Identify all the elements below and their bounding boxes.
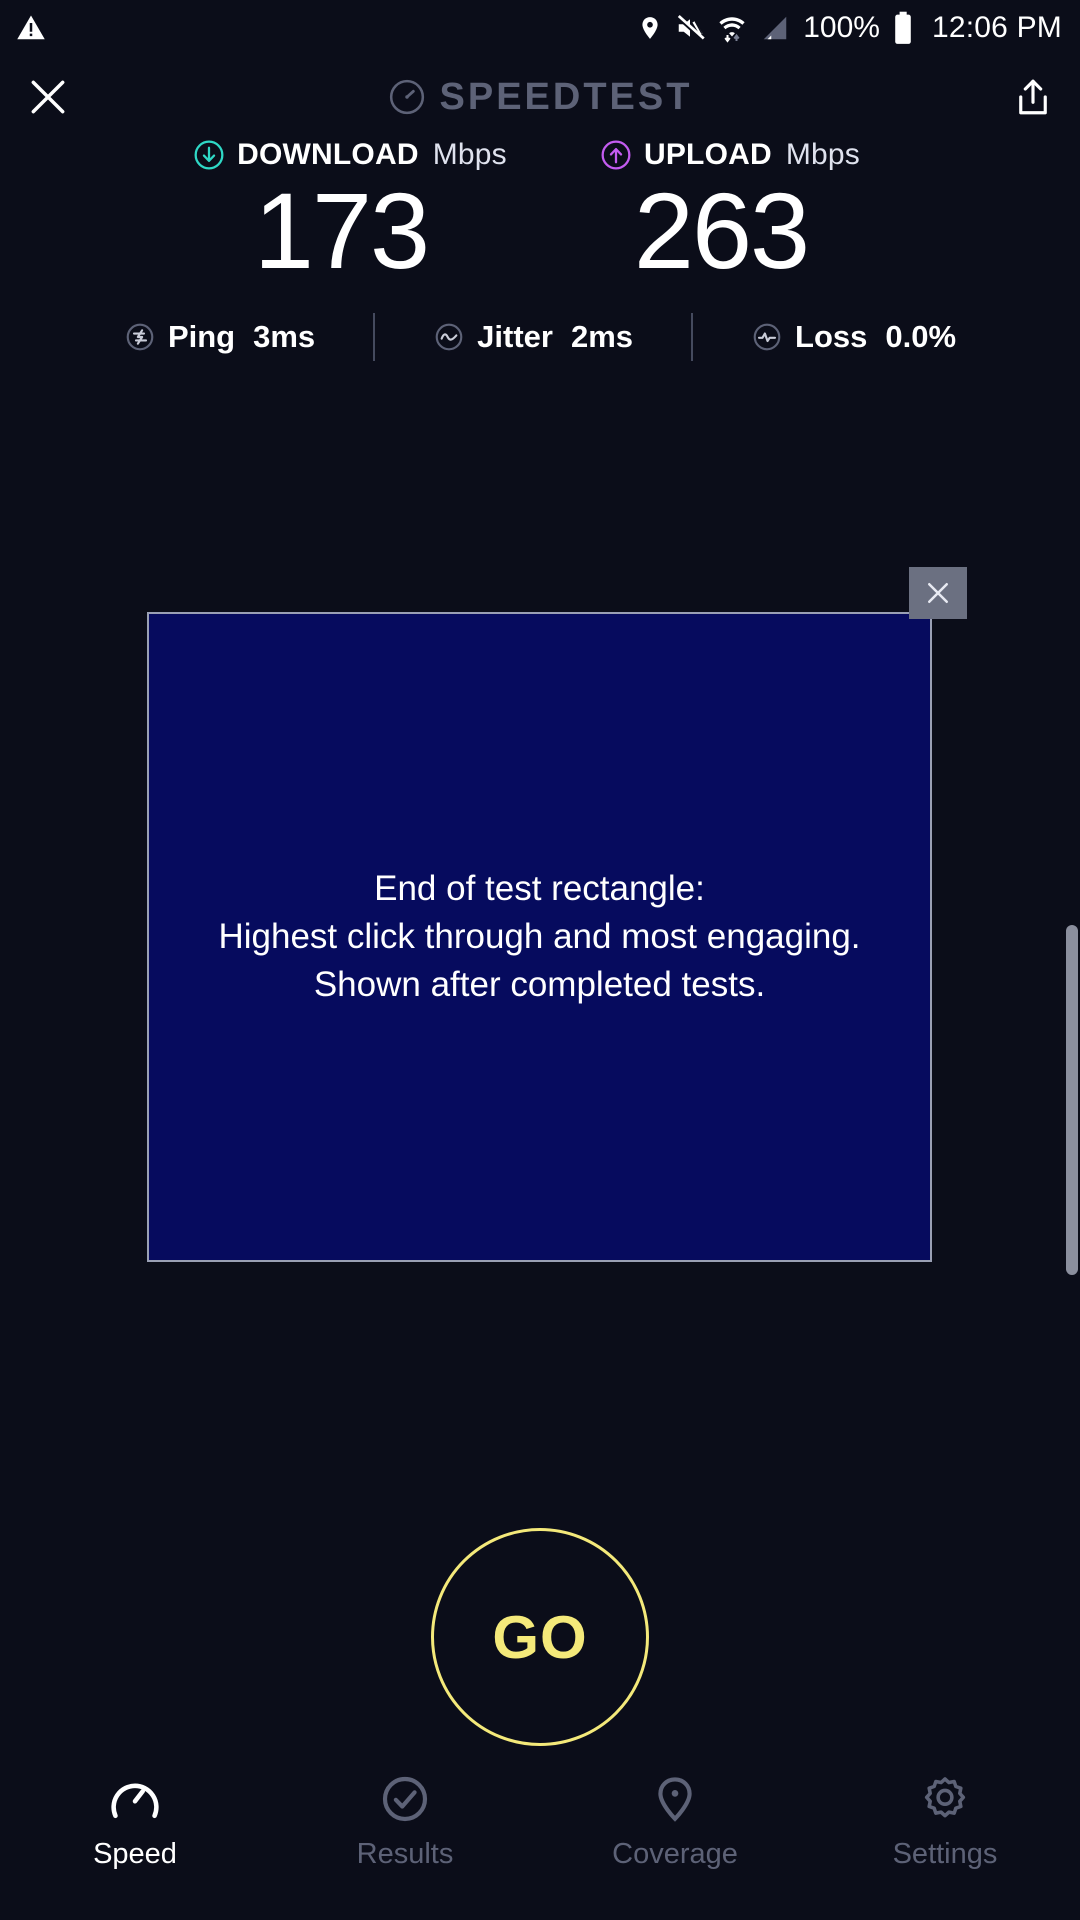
- advertisement: End of test rectangle: Highest click thr…: [147, 612, 932, 1262]
- ad-text: End of test rectangle: Highest click thr…: [218, 865, 860, 1010]
- nav-label-coverage: Coverage: [612, 1838, 738, 1871]
- loss-value: 0.0%: [885, 319, 956, 355]
- close-icon[interactable]: [26, 75, 70, 119]
- ad-line-2: Highest click through and most engaging.: [218, 913, 860, 961]
- loss-icon: [751, 321, 783, 353]
- map-pin-icon: [650, 1774, 700, 1824]
- jitter-metric: Jitter 2ms: [433, 319, 633, 355]
- upload-unit: Mbps: [786, 138, 860, 172]
- nav-item-results[interactable]: Results: [270, 1774, 540, 1871]
- nav-item-speed[interactable]: Speed: [0, 1774, 270, 1871]
- battery-full-icon: [892, 11, 914, 45]
- divider: [373, 313, 375, 361]
- gear-icon: [919, 1774, 971, 1824]
- app-bar: [0, 56, 1080, 138]
- ad-line-1: End of test rectangle:: [218, 865, 860, 913]
- ping-value: 3ms: [253, 319, 315, 355]
- ping-metric: Ping 3ms: [124, 319, 315, 355]
- go-button-label: GO: [492, 1603, 587, 1672]
- speed-metrics-row: DOWNLOAD Mbps 173 UPLOAD Mbps 263: [0, 138, 1080, 287]
- upload-label-row: UPLOAD Mbps: [540, 138, 920, 172]
- ad-banner[interactable]: End of test rectangle: Highest click thr…: [147, 612, 932, 1262]
- loss-metric: Loss 0.0%: [751, 319, 956, 355]
- nav-label-speed: Speed: [93, 1838, 177, 1871]
- upload-metric: UPLOAD Mbps 263: [540, 138, 920, 287]
- loss-label: Loss: [795, 319, 867, 355]
- speedometer-icon: [107, 1774, 163, 1824]
- upload-value: 263: [522, 174, 920, 287]
- arrow-down-circle-icon: [193, 139, 225, 171]
- status-bar-right: 100% 12:06 PM: [637, 11, 1062, 45]
- jitter-value: 2ms: [571, 319, 633, 355]
- bottom-navigation: Speed Results Coverage: [0, 1760, 1080, 1920]
- divider: [691, 313, 693, 361]
- check-circle-icon: [379, 1774, 431, 1824]
- ad-line-3: Shown after completed tests.: [218, 961, 860, 1009]
- status-bar-clock: 12:06 PM: [932, 11, 1062, 45]
- jitter-label: Jitter: [477, 319, 553, 355]
- download-label: DOWNLOAD: [237, 138, 419, 172]
- download-label-row: DOWNLOAD Mbps: [160, 138, 540, 172]
- status-bar-left: [16, 13, 46, 43]
- nav-label-settings: Settings: [893, 1838, 998, 1871]
- warning-triangle-icon: [16, 13, 46, 43]
- share-icon[interactable]: [1012, 76, 1054, 118]
- nav-label-results: Results: [357, 1838, 454, 1871]
- nav-item-settings[interactable]: Settings: [810, 1774, 1080, 1871]
- battery-percent-label: 100%: [803, 11, 880, 45]
- nav-item-coverage[interactable]: Coverage: [540, 1774, 810, 1871]
- upload-label: UPLOAD: [644, 138, 772, 172]
- ping-label: Ping: [168, 319, 235, 355]
- wifi-icon: [717, 13, 747, 43]
- go-button[interactable]: GO: [431, 1528, 649, 1746]
- page-scrollbar[interactable]: [1066, 925, 1078, 1275]
- mute-bell-icon: [675, 13, 705, 43]
- arrow-up-circle-icon: [600, 139, 632, 171]
- download-value: 173: [142, 174, 540, 287]
- ping-icon: [124, 321, 156, 353]
- status-bar: 100% 12:06 PM: [0, 0, 1080, 56]
- speedtest-app-screen: 100% 12:06 PM SPEEDTEST: [0, 0, 1080, 1920]
- cell-signal-icon: [759, 13, 791, 43]
- jitter-icon: [433, 321, 465, 353]
- network-quality-row: Ping 3ms Jitter 2ms: [0, 313, 1080, 361]
- location-pin-icon: [637, 13, 663, 43]
- ad-close-icon[interactable]: [909, 567, 967, 619]
- download-unit: Mbps: [433, 138, 507, 172]
- results-panel: DOWNLOAD Mbps 173 UPLOAD Mbps 263: [0, 138, 1080, 361]
- download-metric: DOWNLOAD Mbps 173: [160, 138, 540, 287]
